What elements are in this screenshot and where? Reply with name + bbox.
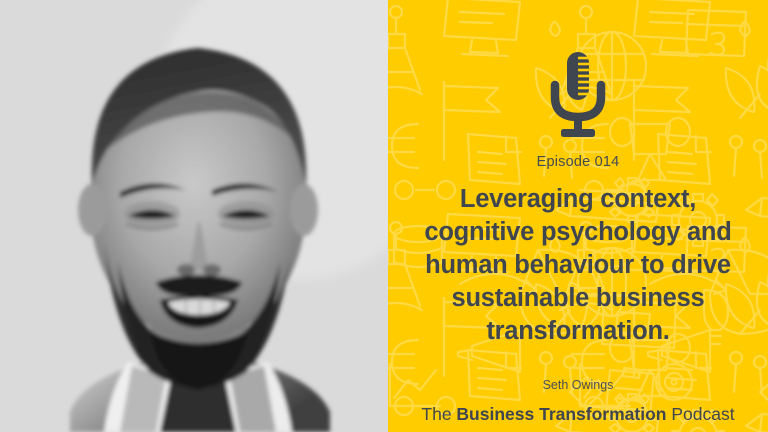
episode-info-panel: Episode 014 Leveraging context, cognitiv… [388, 0, 768, 432]
podcast-episode-cover: Episode 014 Leveraging context, cognitiv… [0, 0, 768, 432]
guest-photo-panel [0, 0, 388, 432]
podcast-name-brand: Business Transformation [456, 404, 666, 424]
podcast-name-prefix: The [421, 404, 456, 424]
episode-number-label: Episode 014 [537, 155, 620, 170]
podcast-name-suffix: Podcast [666, 404, 734, 424]
guest-portrait-photo [0, 0, 388, 432]
microphone-icon [547, 52, 609, 138]
podcast-name: The Business Transformation Podcast [421, 406, 734, 424]
guest-name: Seth Owings [543, 379, 614, 392]
episode-text-block: Episode 014 Leveraging context, cognitiv… [388, 0, 768, 432]
episode-title: Leveraging context, cognitive psychology… [413, 183, 743, 349]
